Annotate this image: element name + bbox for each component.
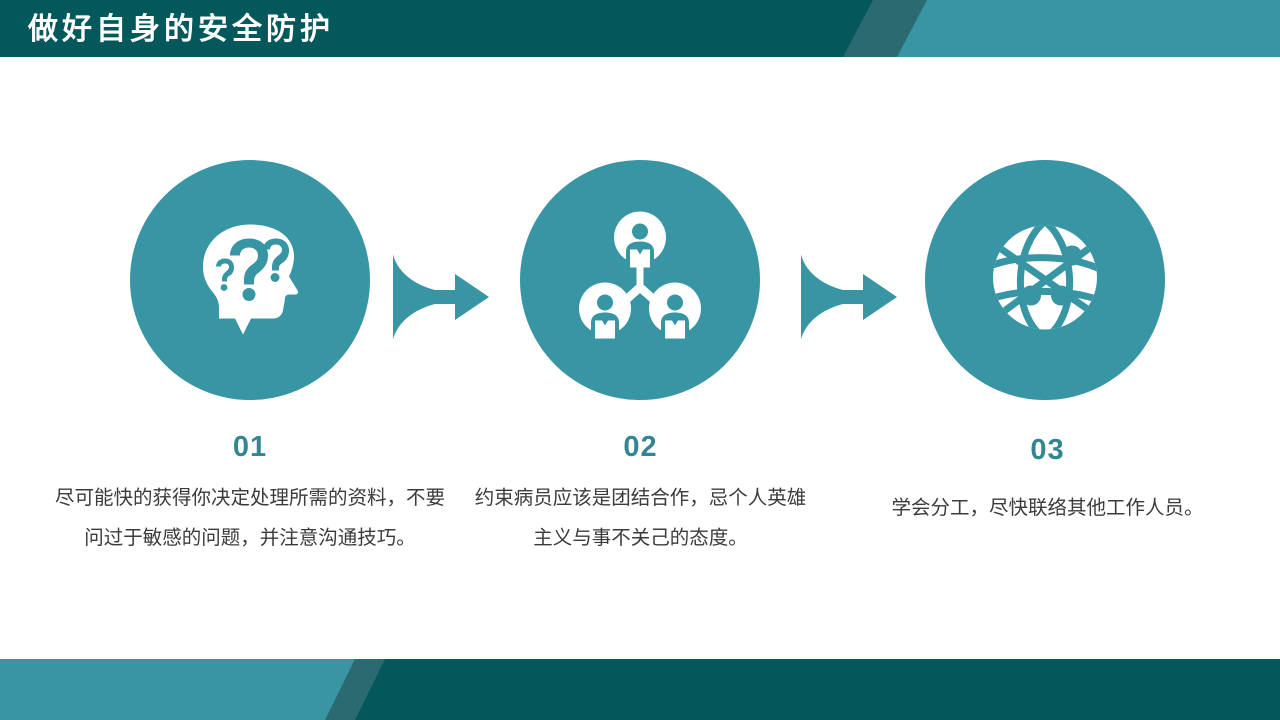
step-1-caption: 01 尽可能快的获得你决定处理所需的资料，不要问过于敏感的问题，并注意沟通技巧。 — [55, 430, 445, 558]
slide-canvas: 做好自身的安全防护 — [0, 0, 1280, 720]
connector-arrow-2 — [793, 252, 903, 342]
step-1-icon-circle — [130, 160, 370, 400]
team-network-icon — [570, 208, 710, 353]
step-2-text: 约束病员应该是团结合作，忌个人英雄主义与事不关己的态度。 — [468, 478, 813, 558]
footer-bar — [0, 659, 1280, 720]
step-3-number: 03 — [875, 433, 1220, 467]
step-3-text: 学会分工，尽快联络其他工作人员。 — [875, 477, 1220, 539]
arrow-right-icon — [393, 254, 489, 340]
step-1-number: 01 — [55, 430, 445, 464]
step-2-caption: 02 约束病员应该是团结合作，忌个人英雄主义与事不关己的态度。 — [468, 430, 813, 558]
arrow-right-icon — [801, 254, 897, 340]
connector-arrow-1 — [385, 252, 495, 342]
globe-network-icon — [975, 208, 1115, 353]
step-3-icon-circle — [925, 160, 1165, 400]
step-2-icon-circle — [520, 160, 760, 400]
process-steps-row — [0, 160, 1280, 400]
step-3-caption: 03 学会分工，尽快联络其他工作人员。 — [875, 433, 1220, 539]
header-bar: 做好自身的安全防护 — [0, 0, 1280, 57]
head-question-icon — [175, 203, 325, 358]
step-2-number: 02 — [468, 430, 813, 464]
page-title: 做好自身的安全防护 — [28, 12, 334, 48]
footer-dark-band — [355, 659, 1280, 720]
step-1-text: 尽可能快的获得你决定处理所需的资料，不要问过于敏感的问题，并注意沟通技巧。 — [55, 478, 445, 558]
header-light-band — [897, 0, 1280, 57]
